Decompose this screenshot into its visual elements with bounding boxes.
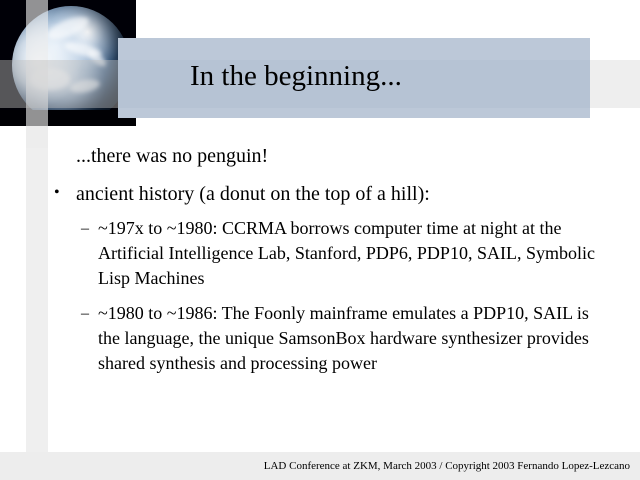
footer-text: LAD Conference at ZKM, March 2003 / Copy… (0, 452, 630, 480)
dash-marker-icon: – (81, 301, 89, 326)
sub-bullet-item: – ~197x to ~1980: CCRMA borrows computer… (48, 216, 640, 291)
title-band-right-extension (590, 60, 640, 108)
page-title: In the beginning... (190, 56, 590, 96)
globe-cloud-icon (45, 12, 92, 43)
overlay-stripe-horizontal (0, 60, 136, 108)
sub-bullet-list: – ~197x to ~1980: CCRMA borrows computer… (48, 216, 640, 376)
sub-bullet-text: ~197x to ~1980: CCRMA borrows computer t… (98, 216, 610, 291)
sub-bullet-text: ~1980 to ~1986: The Foonly mainframe emu… (98, 301, 610, 376)
globe-shadow-band (0, 110, 136, 126)
bullet-text: ancient history (a donut on the top of a… (76, 183, 430, 205)
dash-marker-icon: – (81, 216, 89, 241)
slide-body: ...there was no penguin! • ancient histo… (48, 142, 640, 386)
lead-line: ...there was no penguin! (76, 142, 640, 170)
bullet-marker-icon: • (54, 179, 60, 207)
bullet-item: • ancient history (a donut on the top of… (48, 180, 640, 208)
slide-canvas: In the beginning... ...there was no peng… (0, 0, 640, 480)
sub-bullet-item: – ~1980 to ~1986: The Foonly mainframe e… (48, 301, 640, 376)
